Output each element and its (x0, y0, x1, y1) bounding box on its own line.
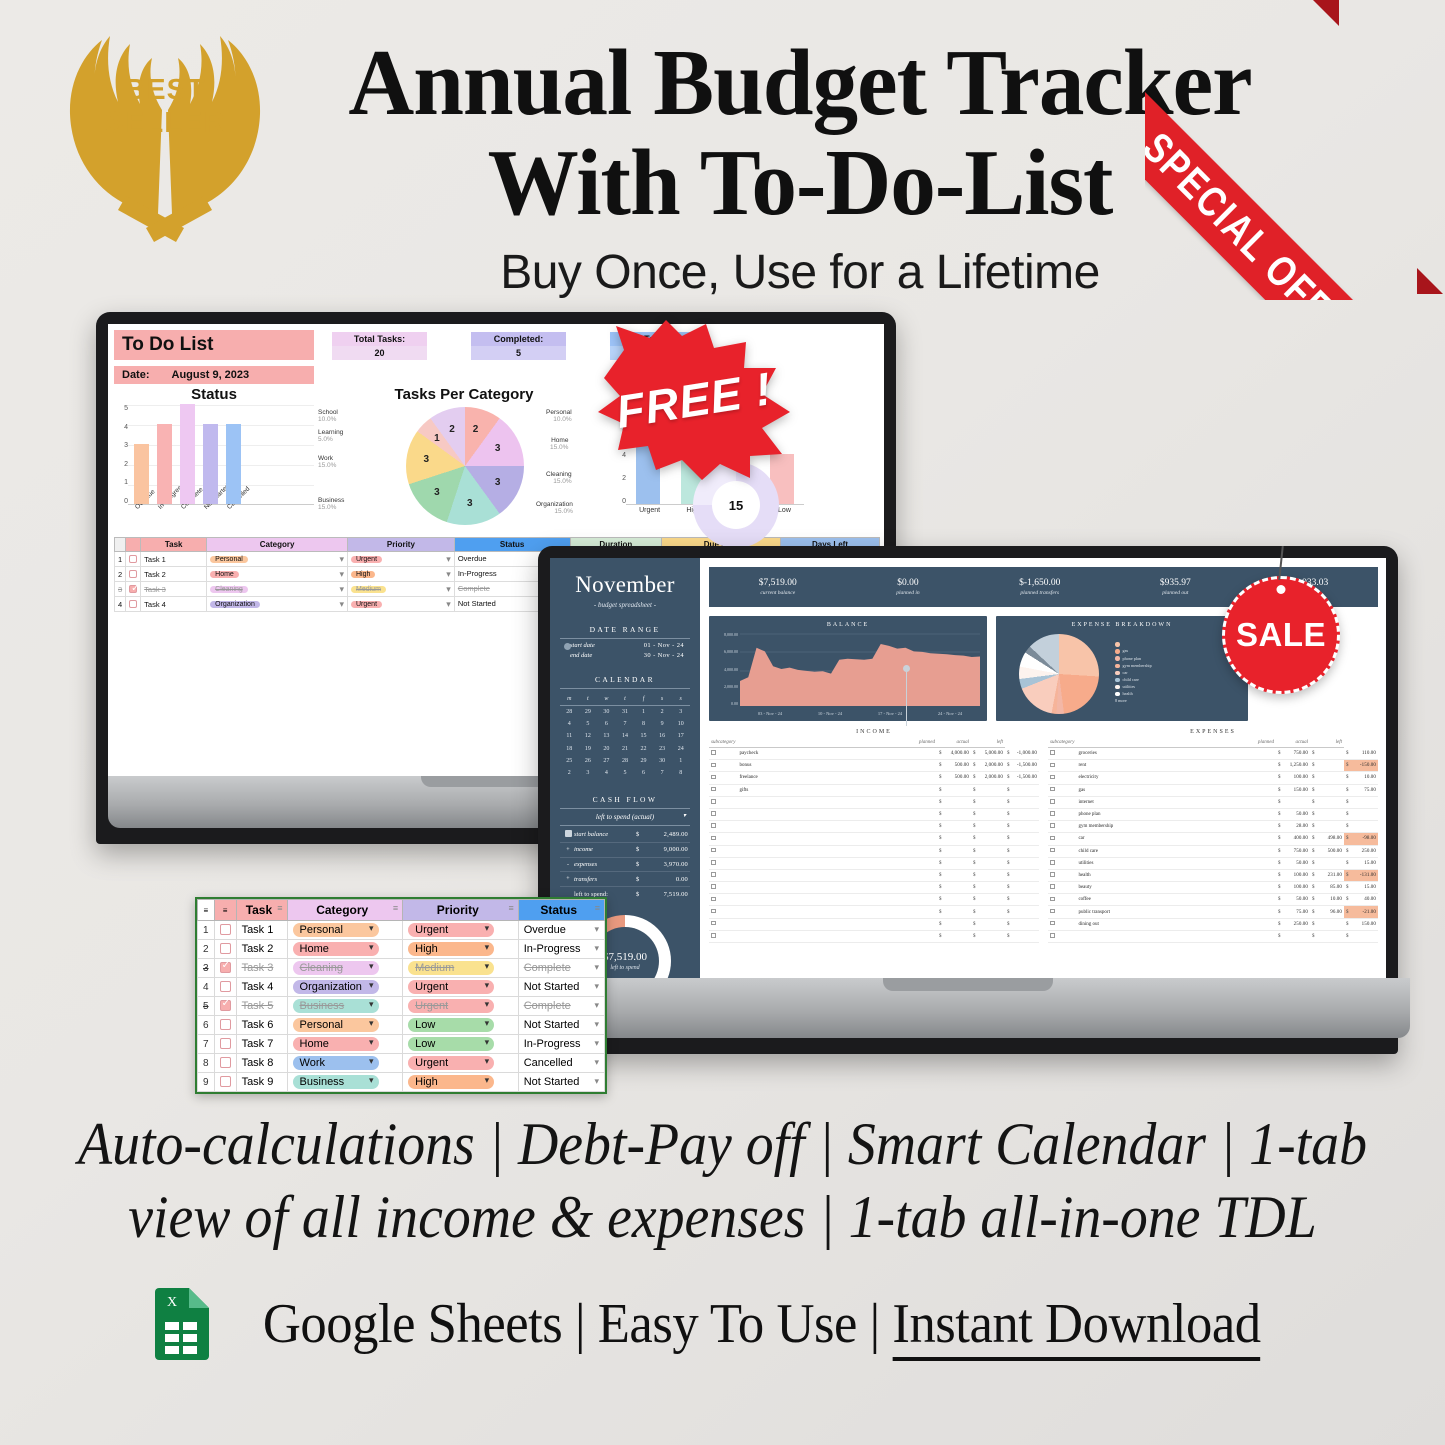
income-row[interactable]: gifts$$$ (709, 784, 1039, 796)
row-checkbox[interactable] (214, 978, 236, 997)
row-checkbox[interactable] (214, 921, 236, 940)
expense-checkbox[interactable] (1048, 772, 1076, 784)
budget-month: November (560, 572, 690, 598)
calendar-day[interactable]: 5 (616, 767, 635, 779)
row-checkbox[interactable] (214, 1054, 236, 1073)
ribbon-tail-right (1417, 268, 1443, 294)
checkbox (1050, 775, 1055, 780)
row-checkbox[interactable] (126, 597, 141, 612)
expense-name: car (1076, 833, 1276, 845)
col-label: Category (316, 903, 368, 917)
income-row[interactable]: $$$ (709, 894, 1039, 906)
category-cell[interactable]: Home▾ (207, 567, 348, 582)
row-number: 3 (198, 959, 215, 978)
calendar-day[interactable]: 18 (560, 743, 579, 755)
pie-label-pct: 15.0% (550, 444, 568, 451)
legend-item: 8 more (1115, 699, 1152, 703)
expense-actual: $231.00 (1310, 869, 1344, 881)
income-left: $ (1005, 930, 1039, 942)
todo-main-table-head: ≡≡Task≡Category≡Priority≡Status≡ (198, 900, 605, 921)
expense-checkbox[interactable] (1048, 760, 1076, 772)
pie-label: Personal10.0% (546, 409, 572, 424)
task-cell: Task 4 (141, 597, 207, 612)
checkbox (711, 763, 716, 768)
table-row[interactable]: 4Task 4OrganizationUrgentNot Started▾ (198, 978, 605, 997)
income-row[interactable]: $$$ (709, 821, 1039, 833)
todo-main-table-overlay: ≡≡Task≡Category≡Priority≡Status≡ 1Task 1… (195, 897, 607, 1094)
income-row[interactable]: $$$ (709, 857, 1039, 869)
end-date-row[interactable]: end date 30 - Nov - 24 (560, 649, 690, 659)
income-actual: $ (971, 906, 1005, 918)
category-cell[interactable]: Organization▾ (207, 597, 348, 612)
expense-checkbox[interactable] (1048, 918, 1076, 930)
calendar-day[interactable]: 25 (560, 755, 579, 767)
income-checkbox[interactable] (709, 772, 737, 784)
income-checkbox[interactable] (709, 833, 737, 845)
income-row[interactable]: $$$ (709, 906, 1039, 918)
weekday: m (560, 696, 579, 706)
income-row[interactable]: $$$ (709, 808, 1039, 820)
category-cell[interactable]: Personal (287, 1016, 403, 1035)
calendar-day[interactable]: 12 (579, 730, 598, 742)
calendar-day[interactable]: 28 (560, 706, 579, 719)
col-header[interactable]: Task≡ (236, 900, 287, 921)
checkbox (1050, 836, 1055, 841)
pie-label-pct: 15.0% (553, 478, 571, 485)
category-cell[interactable]: Business (287, 1073, 403, 1092)
expense-planned: $75.00 (1276, 906, 1310, 918)
status-cell[interactable]: In-Progress▾ (518, 1035, 604, 1054)
table-row[interactable]: 5Task 5BusinessUrgentComplete▾ (198, 997, 605, 1016)
income-checkbox[interactable] (709, 760, 737, 772)
category-pill: Organization (210, 601, 260, 608)
kpi-total-tasks: Total Tasks: 20 (332, 332, 427, 360)
expense-row[interactable]: electricity$100.00$$10.00 (1048, 772, 1378, 784)
calendar-day[interactable]: 10 (671, 718, 690, 730)
ytick: 0 (614, 498, 626, 505)
income-checkbox[interactable] (709, 906, 737, 918)
income-planned: $500.00 (937, 760, 971, 772)
row-checkbox[interactable] (126, 582, 141, 597)
legend-swatch (1115, 664, 1120, 669)
income-name: paycheck (737, 748, 937, 760)
calendar-day[interactable]: 23 (653, 743, 672, 755)
expense-actual: $85.00 (1310, 882, 1344, 894)
features-line2: view of all income & expenses | 1-tab al… (51, 1181, 1395, 1254)
calendar-day[interactable]: 3 (579, 767, 598, 779)
priority-cell[interactable]: Medium (403, 959, 519, 978)
category-cell[interactable]: Personal▾ (207, 552, 348, 567)
expense-row[interactable]: coffee$50.00$10.00$40.00 (1048, 894, 1378, 906)
income-checkbox[interactable] (709, 784, 737, 796)
calendar-day[interactable]: 5 (579, 718, 598, 730)
expense-row[interactable]: phone plan$50.00$$ (1048, 808, 1378, 820)
pie-label: Organization15.0% (536, 501, 573, 516)
task-cell: Task 9 (236, 1073, 287, 1092)
category-cell[interactable]: Business (287, 997, 403, 1016)
calendar-day[interactable]: 4 (597, 767, 616, 779)
caret: ▾ (594, 981, 599, 992)
row-checkbox[interactable] (214, 959, 236, 978)
calendar-day[interactable]: 29 (579, 706, 598, 719)
pie-label-name: Learning (318, 429, 343, 436)
expense-name: gas (1076, 784, 1276, 796)
currency-symbol: $ (636, 831, 646, 838)
expense-checkbox[interactable] (1048, 748, 1076, 760)
expense-checkbox[interactable] (1048, 784, 1076, 796)
task-cell: Task 7 (236, 1035, 287, 1054)
task-cell: Task 1 (236, 921, 287, 940)
calendar-day[interactable]: 7 (653, 767, 672, 779)
status-cell[interactable]: Not Started▾ (518, 1073, 604, 1092)
todo-donut-value: 15 (712, 481, 760, 529)
row-checkbox[interactable] (214, 1035, 236, 1054)
expense-actual: $10.00 (1310, 894, 1344, 906)
expense-name: public transport (1076, 906, 1276, 918)
status-cell[interactable]: Overdue▾ (518, 921, 604, 940)
row-number: 2 (115, 567, 126, 582)
priority-cell[interactable]: Urgent (403, 978, 519, 997)
income-checkbox[interactable] (709, 857, 737, 869)
income-row[interactable]: bonus$500.00$2,000.00$-1,500.00 (709, 760, 1039, 772)
calendar-week: 2345678 (560, 767, 690, 779)
category-pill: Personal (210, 556, 248, 563)
income-name (737, 833, 937, 845)
calendar-day[interactable]: 13 (597, 730, 616, 742)
calendar-day[interactable]: 15 (634, 730, 653, 742)
expense-planned: $250.00 (1276, 918, 1310, 930)
expense-left: $75.00 (1344, 784, 1378, 796)
priority-dropdown: High (408, 942, 494, 956)
pie-label: School10.0% (318, 409, 338, 424)
priority-cell[interactable]: Medium▾ (348, 582, 455, 597)
row-checkbox[interactable] (126, 552, 141, 567)
income-row[interactable]: paycheck$4,000.00$5,000.00$-1,000.00 (709, 748, 1039, 760)
status-cell[interactable]: In-Progress▾ (518, 940, 604, 959)
expense-row[interactable]: public transport$75.00$96.00$-21.00 (1048, 906, 1378, 918)
expense-row[interactable]: dining out$250.00$$150.00 (1048, 918, 1378, 930)
stat-label: planned out (1160, 590, 1191, 596)
cash-flow-selector[interactable]: left to spend (actual) (560, 809, 690, 826)
status-cell[interactable]: Complete▾ (518, 997, 604, 1016)
expense-checkbox[interactable] (1048, 821, 1076, 833)
income-left: $ (1005, 894, 1039, 906)
table-row[interactable]: 2Task 2HomeHighIn-Progress▾ (198, 940, 605, 959)
income-planned: $ (937, 833, 971, 845)
income-planned: $ (937, 930, 971, 942)
filter-icon: ≡ (214, 900, 236, 921)
calendar-day[interactable]: 6 (634, 767, 653, 779)
expense-row[interactable]: groceries$750.00$$110.00 (1048, 748, 1378, 760)
category-cell[interactable]: Cleaning▾ (207, 582, 348, 597)
status-cell[interactable]: Complete▾ (518, 959, 604, 978)
table-row[interactable]: 7Task 7HomeLowIn-Progress▾ (198, 1035, 605, 1054)
calendar-day[interactable]: 11 (560, 730, 579, 742)
calendar-day[interactable]: 20 (597, 743, 616, 755)
checkbox (1050, 897, 1055, 902)
income-row[interactable]: $$$ (709, 833, 1039, 845)
legend-item: gas (1115, 649, 1152, 654)
category-dropdown: Personal (293, 923, 379, 937)
income-row[interactable]: $$$ (709, 882, 1039, 894)
expense-checkbox[interactable] (1048, 882, 1076, 894)
expense-checkbox[interactable] (1048, 906, 1076, 918)
priority-cell[interactable]: High (403, 1073, 519, 1092)
calendar-day[interactable]: 28 (616, 755, 635, 767)
row-checkbox[interactable] (126, 567, 141, 582)
calendar-day[interactable]: 31 (616, 706, 635, 719)
start-date-row[interactable]: start date 01 - Nov - 24 (560, 639, 690, 649)
income-checkbox[interactable] (709, 894, 737, 906)
pie-label-name: School (318, 409, 338, 416)
ytick: 8,000.00 (716, 632, 738, 637)
expense-planned: $400.00 (1276, 833, 1310, 845)
pie-label-pct: 15.0% (318, 504, 336, 511)
priority-cell[interactable]: Urgent (403, 1054, 519, 1073)
income-checkbox[interactable] (709, 748, 737, 760)
balance-chart-title: BALANCE (716, 622, 980, 628)
table-row[interactable]: 8Task 8WorkUrgentCancelled▾ (198, 1054, 605, 1073)
balance-marker-knob (903, 665, 910, 672)
checkbox (129, 555, 137, 563)
expense-checkbox[interactable] (1048, 808, 1076, 820)
income-checkbox[interactable] (709, 821, 737, 833)
row-checkbox[interactable] (214, 940, 236, 959)
cash-flow-name: start balance (574, 831, 636, 838)
balance-area (740, 632, 980, 706)
category-cell[interactable]: Cleaning (287, 959, 403, 978)
laptop2-trackpad-notch (883, 978, 1053, 991)
income-row[interactable]: $$$ (709, 796, 1039, 808)
calendar-day[interactable]: 19 (579, 743, 598, 755)
status-cell[interactable]: Not Started▾ (518, 1016, 604, 1035)
category-cell[interactable]: Personal (287, 921, 403, 940)
checkbox (711, 750, 716, 755)
priority-cell[interactable]: Low (403, 1035, 519, 1054)
xtick: 10 - Nov - 24 (818, 711, 842, 716)
start-date-label: start date (570, 642, 595, 649)
legend-item: health (1115, 692, 1152, 697)
checkbox (1050, 909, 1055, 914)
ytick: 5 (114, 405, 128, 412)
expense-row[interactable]: rent$1,250.00$$-150.00 (1048, 760, 1378, 772)
stat-item: $0.00planned in (896, 578, 919, 596)
status-cell[interactable]: Cancelled▾ (518, 1054, 604, 1073)
calendar-day[interactable]: 16 (653, 730, 672, 742)
calendar-day[interactable]: 4 (560, 718, 579, 730)
expense-actual: $96.00 (1310, 906, 1344, 918)
calendar-day[interactable]: 14 (616, 730, 635, 742)
pie-label-name: Cleaning (546, 471, 572, 478)
expense-row[interactable]: internet$$$ (1048, 796, 1378, 808)
priority-cell[interactable]: High (403, 940, 519, 959)
calendar-day[interactable]: 8 (634, 718, 653, 730)
checkbox (711, 897, 716, 902)
calendar-day[interactable]: 2 (560, 767, 579, 779)
expense-row[interactable]: $$$ (1048, 930, 1378, 942)
income-row[interactable]: $$$ (709, 845, 1039, 857)
col-header[interactable]: Priority≡ (403, 900, 519, 921)
calendar-day[interactable]: 17 (671, 730, 690, 742)
calendar-day[interactable]: 24 (671, 743, 690, 755)
checkbox (1050, 763, 1055, 768)
expense-checkbox[interactable] (1048, 796, 1076, 808)
priority-cell[interactable]: Urgent (403, 921, 519, 940)
income-actual: $ (971, 857, 1005, 869)
calendar-day[interactable]: 1 (634, 706, 653, 719)
cash-flow-name: income (574, 846, 636, 853)
expense-row[interactable]: child care$750.00$500.00$250.00 (1048, 845, 1378, 857)
legend-label: utilities (1123, 685, 1136, 689)
pie-value: 3 (495, 477, 501, 488)
calendar-day[interactable]: 30 (653, 755, 672, 767)
priority-cell[interactable]: Urgent (403, 997, 519, 1016)
calendar-day[interactable]: 27 (597, 755, 616, 767)
col-header[interactable]: Status≡ (518, 900, 604, 921)
expense-actual: $ (1310, 918, 1344, 930)
priority-cell[interactable]: Urgent▾ (348, 552, 455, 567)
row-checkbox[interactable] (214, 997, 236, 1016)
income-row[interactable]: freelance$500.00$2,000.00$-1,500.00 (709, 772, 1039, 784)
checkbox (1050, 860, 1055, 865)
income-actual: $ (971, 882, 1005, 894)
calendar-day[interactable]: 21 (616, 743, 635, 755)
col-header: Priority (348, 538, 455, 552)
priority-cell[interactable]: High▾ (348, 567, 455, 582)
checkbox (220, 1019, 231, 1030)
income-checkbox[interactable] (709, 882, 737, 894)
status-cell[interactable]: Not Started▾ (518, 978, 604, 997)
best-seller-line2: SELLER (40, 109, 290, 138)
income-row[interactable]: $$$ (709, 918, 1039, 930)
category-cell[interactable]: Home (287, 1035, 403, 1054)
calendar-day[interactable]: 2 (653, 706, 672, 719)
table-row[interactable]: 6Task 6PersonalLowNot Started▾ (198, 1016, 605, 1035)
cta-row: X Google Sheets | Easy To Use | Instant … (0, 1288, 1445, 1360)
expense-planned: $100.00 (1276, 882, 1310, 894)
expense-table-wrap: EXPENSES subcategoryplannedactualleft gr… (1048, 729, 1378, 943)
ytick: 6,000.00 (716, 649, 738, 654)
calendar-day[interactable]: 30 (597, 706, 616, 719)
expense-row[interactable]: beauty$100.00$85.00$15.00 (1048, 882, 1378, 894)
income-left: $ (1005, 857, 1039, 869)
budget-calendar[interactable]: mtwtfss 28293031123456789101112131415161… (560, 696, 690, 779)
calendar-day[interactable]: 1 (671, 755, 690, 767)
expense-row[interactable]: car$400.00$498.00$-98.00 (1048, 833, 1378, 845)
table-row[interactable]: 9Task 9BusinessHighNot Started▾ (198, 1073, 605, 1092)
income-checkbox[interactable] (709, 930, 737, 942)
calendar-body: 2829303112345678910111213141516171819202… (560, 706, 690, 780)
cta-instant-download[interactable]: Instant Download (892, 1293, 1260, 1361)
pie-label: Business15.0% (318, 497, 344, 512)
legend-swatch (1115, 642, 1120, 647)
expense-row[interactable]: health$100.00$231.00$-131.00 (1048, 869, 1378, 881)
income-checkbox[interactable] (709, 796, 737, 808)
x-label: Urgent (639, 507, 660, 514)
income-checkbox[interactable] (709, 869, 737, 881)
income-row[interactable]: $$$ (709, 869, 1039, 881)
table-row[interactable]: 3Task 3CleaningMediumComplete▾ (198, 959, 605, 978)
expense-actual: $498.00 (1310, 833, 1344, 845)
income-planned: $ (937, 808, 971, 820)
caret: ▾ (594, 1000, 599, 1011)
caret: ▾ (339, 569, 344, 580)
calendar-day[interactable]: 9 (653, 718, 672, 730)
expense-checkbox[interactable] (1048, 930, 1076, 942)
expense-checkbox[interactable] (1048, 833, 1076, 845)
row-checkbox[interactable] (214, 1073, 236, 1092)
legend-label: child care (1123, 678, 1139, 682)
legend-label: 8 more (1115, 699, 1127, 703)
category-cell[interactable]: Home (287, 940, 403, 959)
income-actual: $ (971, 918, 1005, 930)
calendar-day[interactable]: 7 (616, 718, 635, 730)
sale-badge: SALE (1222, 576, 1340, 694)
col-header[interactable]: Category≡ (287, 900, 403, 921)
income-row[interactable]: $$$ (709, 930, 1039, 942)
todo-date-value[interactable]: August 9, 2023 (172, 369, 250, 381)
expense-checkbox[interactable] (1048, 845, 1076, 857)
currency-symbol: $ (636, 876, 646, 883)
expense-checkbox[interactable] (1048, 857, 1076, 869)
checkbox (129, 570, 137, 578)
expense-pie-legend: gasphone plangym membershipcarchild care… (1115, 642, 1152, 706)
ribbon-band: SPECIAL OFFER (1145, 72, 1429, 300)
calendar-week: 45678910 (560, 718, 690, 730)
caret: ▾ (594, 924, 599, 935)
expense-checkbox[interactable] (1048, 894, 1076, 906)
income-checkbox[interactable] (709, 808, 737, 820)
donut-label: left to spend (610, 965, 639, 971)
expense-actual: $ (1310, 808, 1344, 820)
priority-dropdown: Urgent (408, 923, 494, 937)
category-cell[interactable]: Work (287, 1054, 403, 1073)
priority-cell[interactable]: Low (403, 1016, 519, 1035)
income-name: freelance (737, 772, 937, 784)
row-checkbox[interactable] (214, 1016, 236, 1035)
income-checkbox[interactable] (709, 845, 737, 857)
income-left: $-1,500.00 (1005, 772, 1039, 784)
income-actual: $ (971, 784, 1005, 796)
laptop2-base (550, 978, 1386, 1038)
expense-checkbox[interactable] (1048, 869, 1076, 881)
income-name: gifts (737, 784, 937, 796)
income-name (737, 857, 937, 869)
product-mockup-stage: To Do List Date: August 9, 2023 Total Ta… (0, 296, 1445, 1106)
expense-row[interactable]: gym membership$28.00$$ (1048, 821, 1378, 833)
legend-swatch (1115, 649, 1120, 654)
calendar-day[interactable]: 29 (634, 755, 653, 767)
table-row[interactable]: 1Task 1PersonalUrgentOverdue▾ (198, 921, 605, 940)
calendar-day[interactable]: 8 (671, 767, 690, 779)
priority-cell[interactable]: Urgent▾ (348, 597, 455, 612)
calendar-day[interactable]: 26 (579, 755, 598, 767)
income-checkbox[interactable] (709, 918, 737, 930)
weekday: s (653, 696, 672, 706)
calendar-day[interactable]: 22 (634, 743, 653, 755)
stat-item: $-1,650.00planned transfers (1019, 578, 1060, 596)
calendar-day[interactable]: 3 (671, 706, 690, 719)
expense-row[interactable]: utilities$50.00$$15.00 (1048, 857, 1378, 869)
todo-date-label: Date: (122, 369, 150, 381)
expense-row[interactable]: gas$150.00$$75.00 (1048, 784, 1378, 796)
expense-col-header: planned (1076, 738, 1276, 748)
income-planned: $ (937, 882, 971, 894)
calendar-day[interactable]: 6 (597, 718, 616, 730)
balance-marker (906, 668, 907, 726)
category-cell[interactable]: Organization (287, 978, 403, 997)
checkbox (711, 775, 716, 780)
